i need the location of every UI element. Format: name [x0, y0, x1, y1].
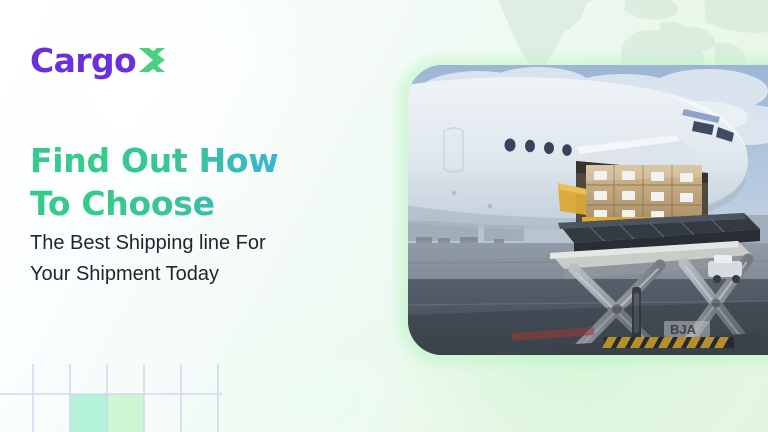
headline-line-1: Find Out How	[30, 140, 360, 183]
x-mark-icon	[137, 45, 167, 75]
cargox-logo[interactable]: Cargo	[30, 42, 167, 78]
logo-wordmark: Cargo	[30, 44, 136, 77]
page-subtitle: The Best Shipping line For Your Shipment…	[30, 228, 370, 290]
headline-line-2: To Choose	[30, 183, 360, 226]
marketing-banner: Cargo Find Out How To Choose The Best Sh…	[0, 0, 768, 432]
grid-pattern-decoration	[0, 362, 264, 432]
subheadline-line-2: Your Shipment Today	[30, 259, 370, 290]
subheadline-line-1: The Best Shipping line For	[30, 228, 370, 259]
cargo-aircraft-loading-photo: BJA	[408, 65, 768, 355]
page-title: Find Out How To Choose	[30, 140, 360, 226]
